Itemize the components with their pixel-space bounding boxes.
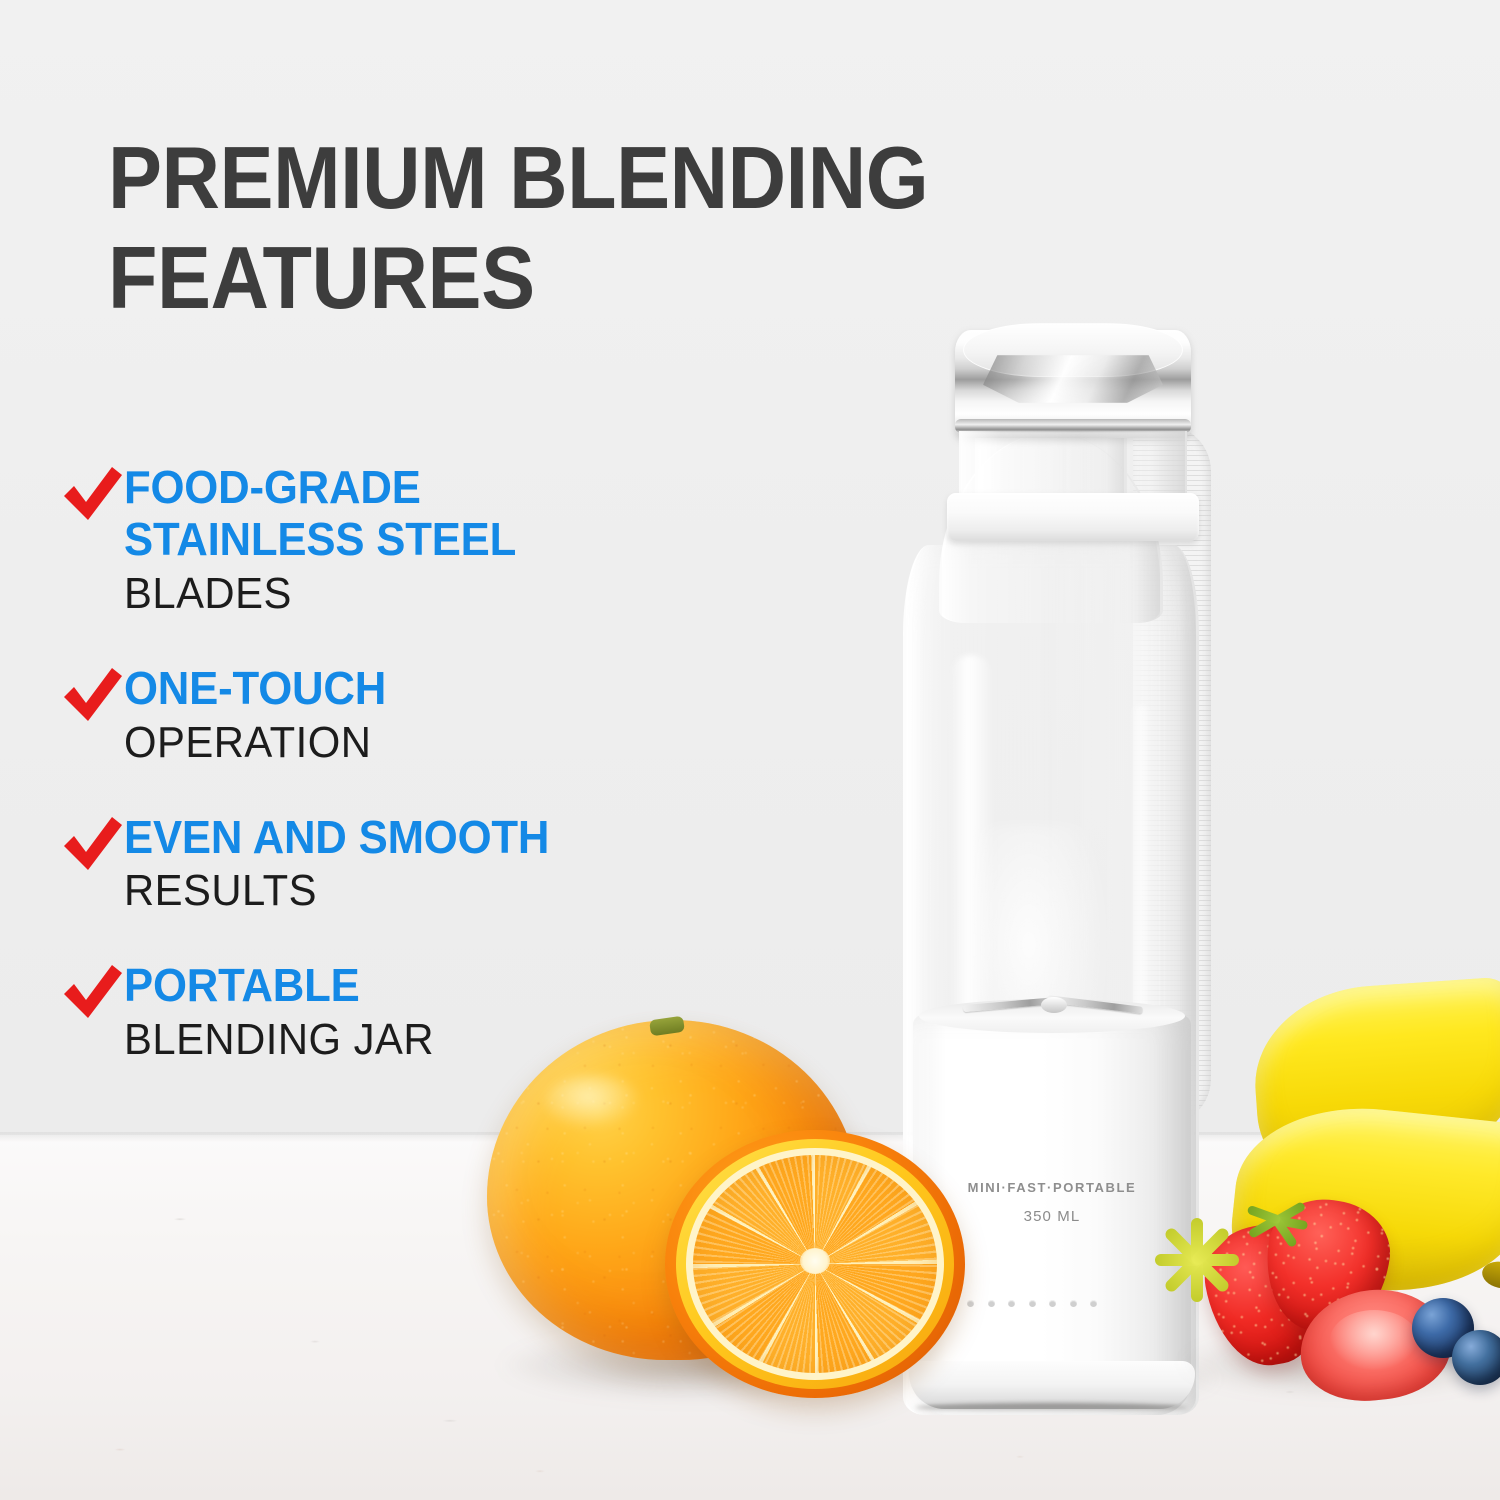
feature-title: ONE-TOUCH (124, 663, 730, 715)
base-bottom-rim (909, 1361, 1195, 1409)
feature-subtitle: BLADES (124, 568, 730, 621)
orange-half-core (800, 1248, 830, 1274)
led-dot (1008, 1300, 1015, 1307)
led-dot (1049, 1300, 1056, 1307)
white-silicone-collar (947, 493, 1199, 541)
feature-title: FOOD-GRADE STAINLESS STEEL (124, 462, 730, 566)
feature-title: PORTABLE (124, 960, 730, 1012)
lid-chrome-facet (983, 355, 1163, 403)
red-checkmark-icon (62, 816, 124, 872)
strawberry-calyx-right (1248, 1192, 1318, 1252)
feature-subtitle: RESULTS (124, 865, 730, 918)
red-checkmark-icon (62, 964, 124, 1020)
base-ground-shadow (915, 1403, 1187, 1412)
feature-item-one-touch: ONE-TOUCH OPERATION (62, 663, 762, 770)
product-brand-label: MINI·FAST·PORTABLE (913, 1180, 1191, 1195)
led-dot (967, 1300, 974, 1307)
strawberry-calyx-left (1155, 1218, 1251, 1306)
feature-item-even-and-smooth: EVEN AND SMOOTH RESULTS (62, 812, 762, 919)
page-title: PREMIUM BLENDING FEATURES (108, 128, 1138, 329)
feature-list: FOOD-GRADE STAINLESS STEEL BLADES ONE-TO… (62, 462, 762, 1109)
blade-hub (1041, 997, 1067, 1013)
led-dot (988, 1300, 995, 1307)
orange-highlight (545, 1075, 641, 1129)
stainless-steel-blade-icon (963, 993, 1143, 1019)
feature-item-food-grade-stainless-steel: FOOD-GRADE STAINLESS STEEL BLADES (62, 462, 762, 621)
feature-title: EVEN AND SMOOTH (124, 812, 730, 864)
feature-subtitle: OPERATION (124, 717, 730, 770)
red-checkmark-icon (62, 667, 124, 723)
led-indicator-row (947, 1298, 1097, 1308)
strawberry-half-core (1330, 1310, 1418, 1370)
red-checkmark-icon (62, 466, 124, 522)
blueberry-right (1452, 1330, 1500, 1385)
product-feature-banner: PREMIUM BLENDING FEATURES FOOD-GRADE STA… (0, 0, 1500, 1500)
led-dot (1090, 1300, 1097, 1307)
led-dot (1070, 1300, 1077, 1307)
led-dot (1029, 1300, 1036, 1307)
